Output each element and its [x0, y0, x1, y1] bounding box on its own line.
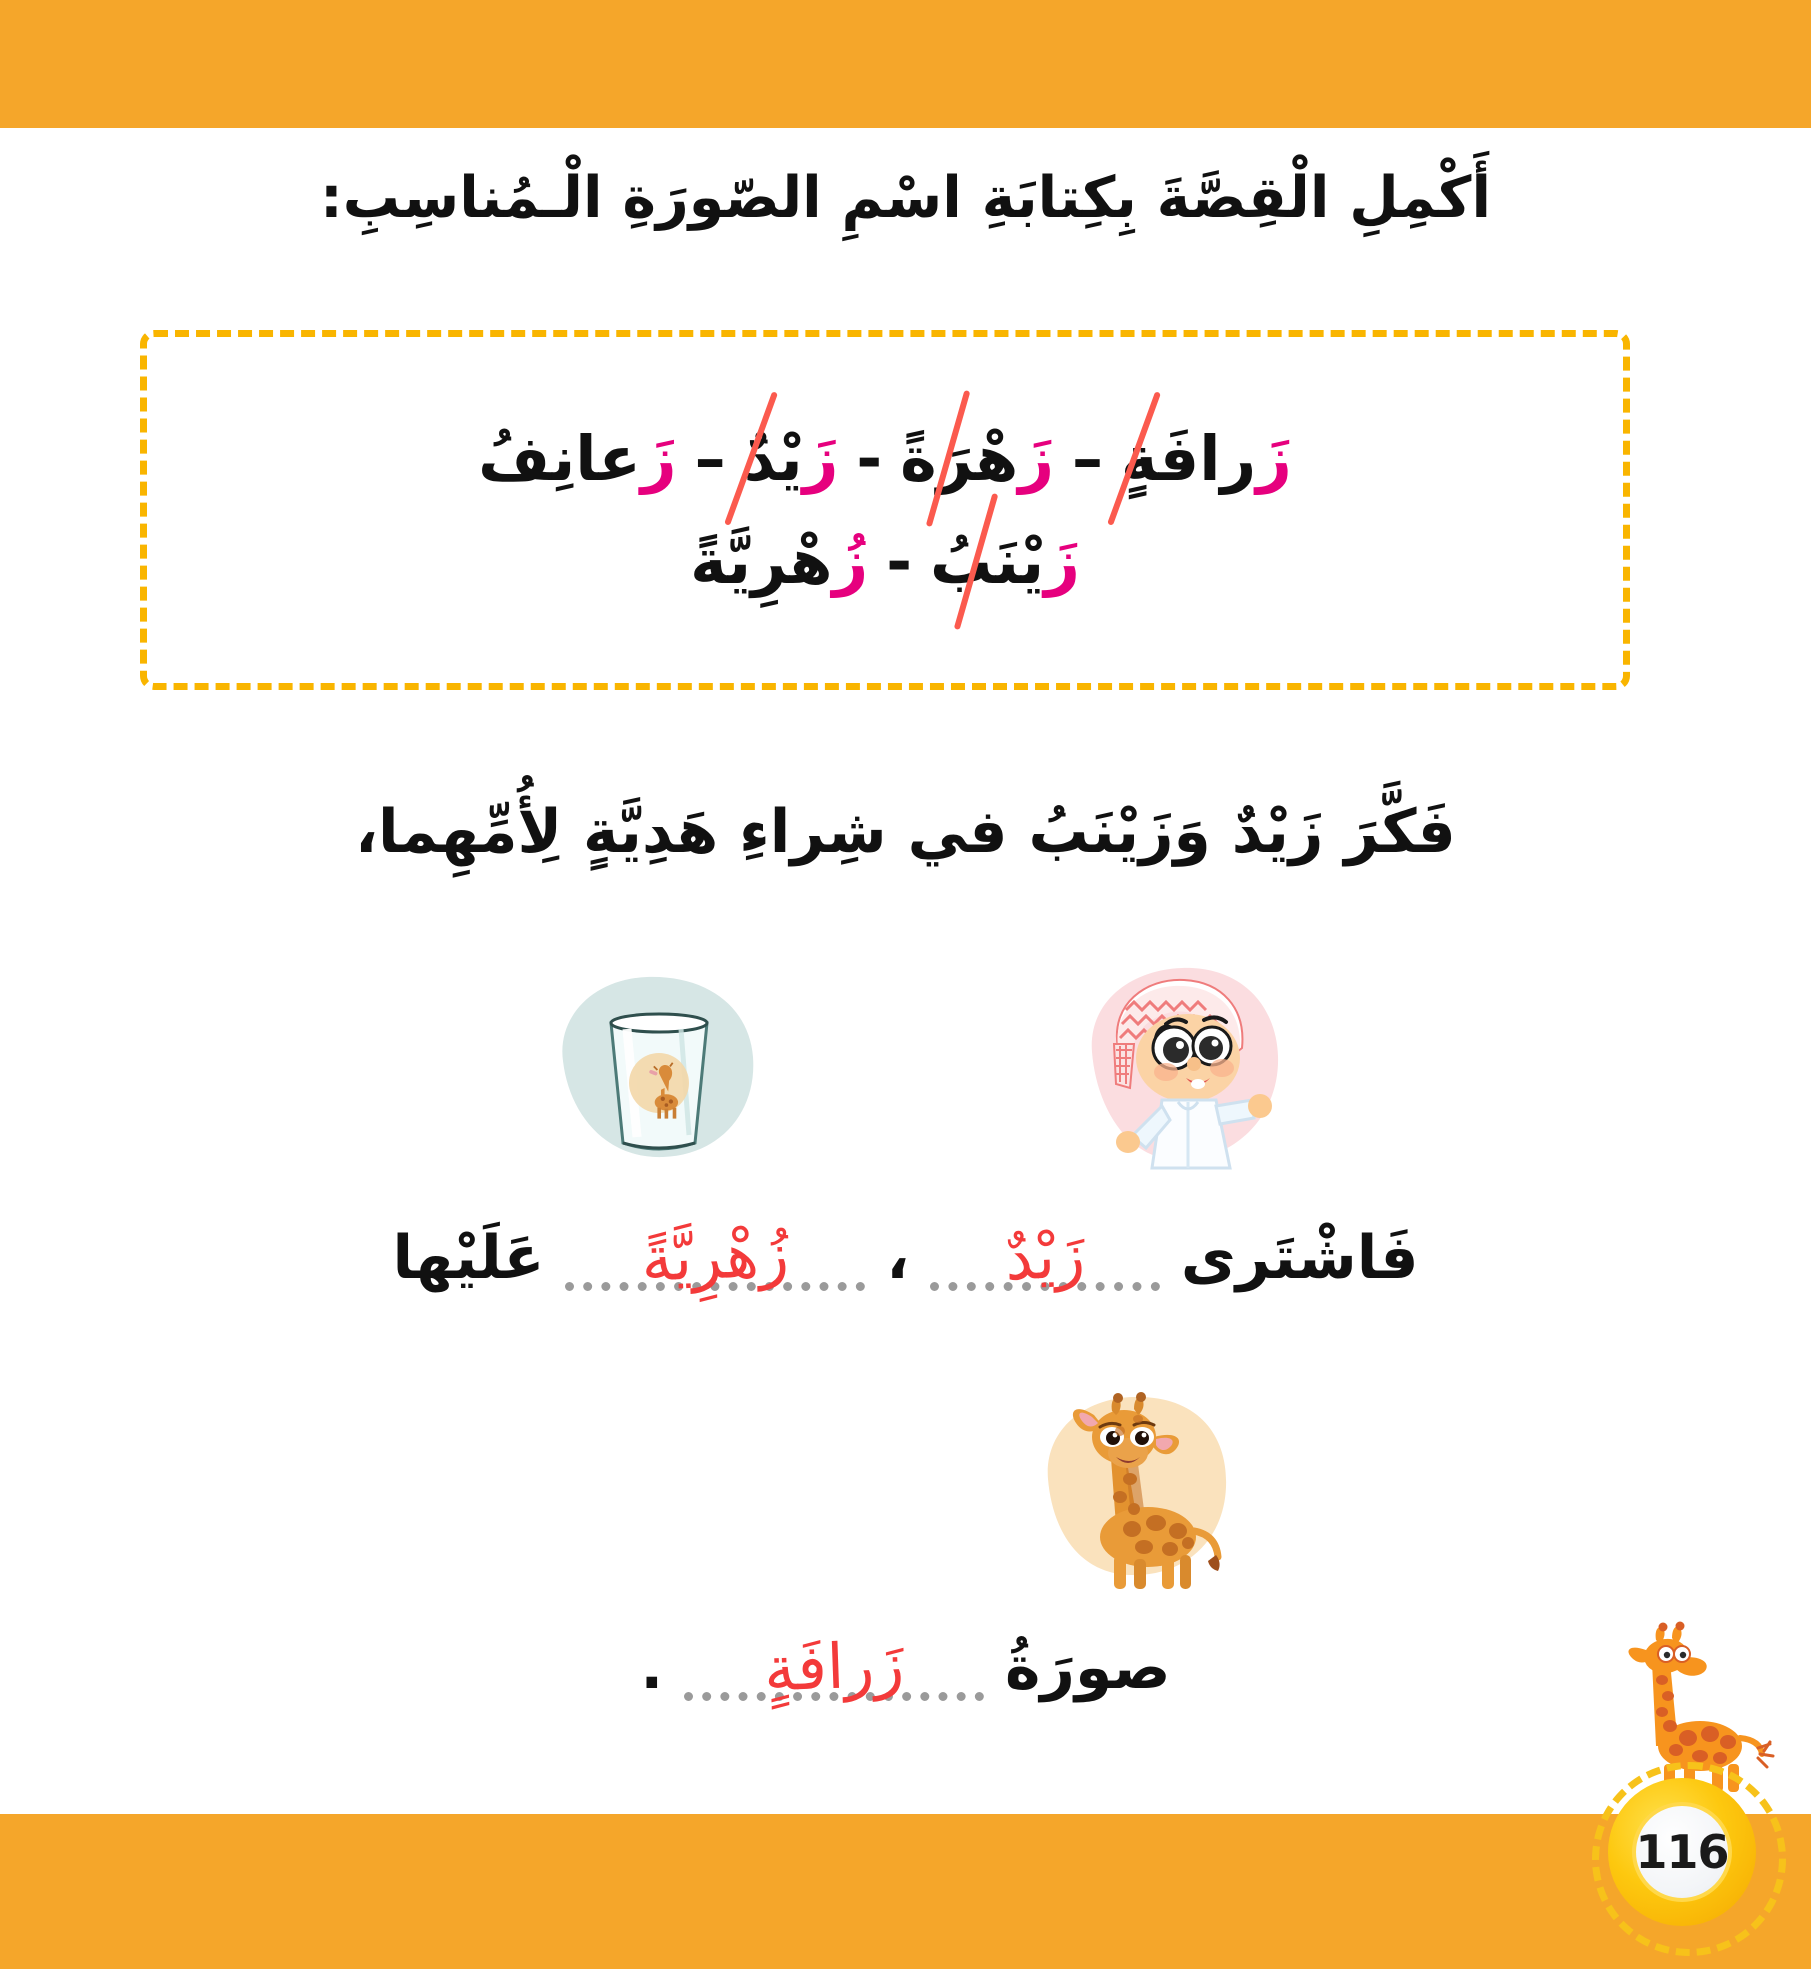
word-zahrah[interactable]: زَهْرَةً	[896, 412, 1058, 505]
blank-2[interactable]: زُهْرِيَّةً	[565, 1215, 865, 1299]
story-sentence-1: فَكَّرَ زَيْدٌ وَزَيْنَبُ في شِراءِ هَدِ…	[0, 790, 1811, 874]
page-number-badge: 116	[1608, 1778, 1756, 1926]
giraffe-illustration	[1020, 1375, 1250, 1590]
word-zarafah[interactable]: زَرافَةٍ	[1117, 412, 1296, 505]
line2-tail: عَلَيْها	[392, 1223, 544, 1293]
blank-1[interactable]: زَيْدٌ	[930, 1215, 1160, 1299]
blank-2-answer: زُهْرِيَّةً	[564, 1210, 867, 1304]
worksheet-page: أَكْمِلِ الْقِصَّةَ بِكِتابَةِ اسْمِ الص…	[0, 0, 1811, 1969]
word-bank-line-1: زَرافَةٍ – زَهْرَةً - زَيْدٌ – زَعانِفُ	[474, 412, 1296, 505]
line2-lead: فَاشْتَرى	[1181, 1223, 1419, 1293]
word-zuhriyyah[interactable]: زُهْرِيَّةً	[686, 515, 872, 608]
word-zaanif[interactable]: زَعانِفُ	[474, 412, 680, 505]
line2-comma: ،	[886, 1223, 909, 1293]
blank-3-answer: زَرافَةٍ	[683, 1620, 986, 1714]
line3-tail: .	[640, 1633, 663, 1703]
picture-glass-with-giraffe	[535, 965, 785, 1165]
bottom-orange-bar	[0, 1814, 1811, 1969]
story-line-3: صورَةُ زَرافَةٍ .	[0, 1625, 1811, 1709]
separator-dash: –	[1058, 412, 1117, 505]
word-zaydun[interactable]: زَيْدٌ	[740, 412, 843, 505]
page-number-badge-area: 116	[1590, 1618, 1790, 1958]
line3-lead: صورَةُ	[1005, 1633, 1171, 1703]
separator-hyphen: -	[842, 412, 896, 505]
separator-dash-2: –	[681, 412, 740, 505]
boy-illustration	[1070, 960, 1295, 1170]
word-zaynab[interactable]: زَيْنَبُ	[926, 515, 1084, 608]
story-line-2: فَاشْتَرى زَيْدٌ ، زُهْرِيَّةً عَلَيْها	[0, 1215, 1811, 1299]
glass-illustration	[535, 965, 785, 1165]
instruction-text: أَكْمِلِ الْقِصَّةَ بِكِتابَةِ اسْمِ الص…	[0, 160, 1811, 237]
picture-giraffe	[1020, 1375, 1250, 1590]
separator-hyphen-2: -	[872, 515, 926, 608]
page-number: 116	[1635, 1825, 1728, 1879]
word-bank-line-2: زَيْنَبُ - زُهْرِيَّةً	[686, 515, 1084, 608]
top-orange-bar	[0, 0, 1811, 128]
blank-1-answer: زَيْدٌ	[929, 1211, 1162, 1303]
badge-core: 116	[1632, 1802, 1732, 1902]
word-bank-box: زَرافَةٍ – زَهْرَةً - زَيْدٌ – زَعانِفُ …	[140, 330, 1630, 690]
picture-boy-in-thobe	[1070, 960, 1295, 1170]
blank-3[interactable]: زَرافَةٍ	[684, 1625, 984, 1709]
